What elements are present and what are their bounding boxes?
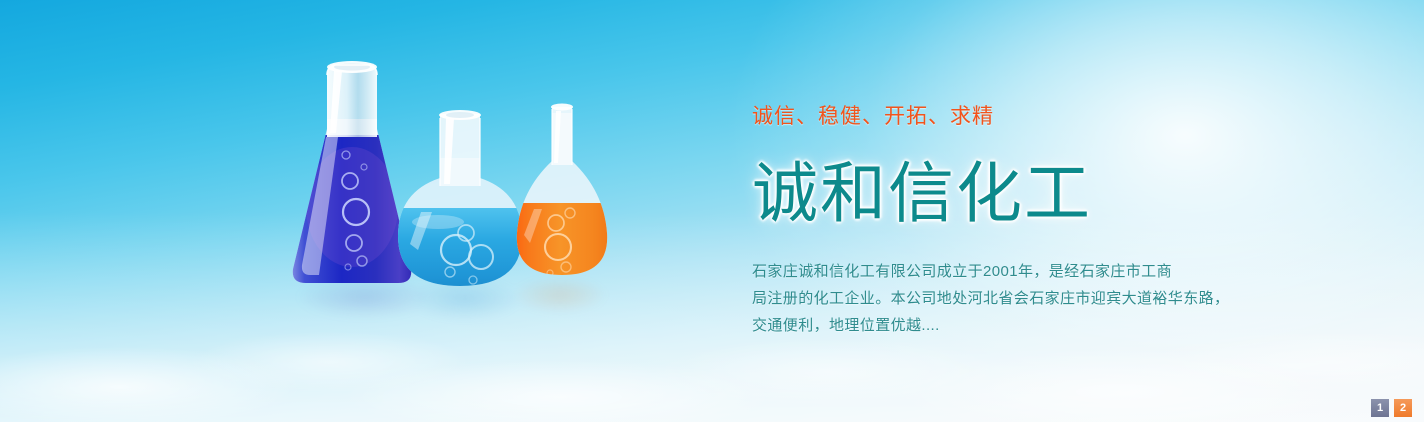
description-line: 石家庄诚和信化工有限公司成立于2001年，是经石家庄市工商 (752, 258, 1312, 285)
pager-button-1[interactable]: 1 (1371, 399, 1389, 417)
company-title: 诚和信化工 (752, 156, 1312, 230)
pager-button-2[interactable]: 2 (1394, 399, 1412, 417)
hero-banner: 诚信、稳健、开拓、求精 诚和信化工 石家庄诚和信化工有限公司成立于2001年，是… (0, 0, 1424, 422)
banner-copy: 诚信、稳健、开拓、求精 诚和信化工 石家庄诚和信化工有限公司成立于2001年，是… (752, 104, 1312, 339)
company-slogan: 诚信、稳健、开拓、求精 (752, 104, 1312, 130)
chemistry-flasks-illustration (280, 55, 630, 355)
pear-flask-orange-icon (508, 95, 616, 290)
carousel-pagination[interactable]: 1 2 (1371, 399, 1412, 417)
description-line: 交通便利，地理位置优越.... (752, 312, 1312, 339)
description-line: 局注册的化工企业。本公司地处河北省会石家庄市迎宾大道裕华东路， (752, 285, 1312, 312)
company-description: 石家庄诚和信化工有限公司成立于2001年，是经石家庄市工商 局注册的化工企业。本… (752, 258, 1312, 339)
